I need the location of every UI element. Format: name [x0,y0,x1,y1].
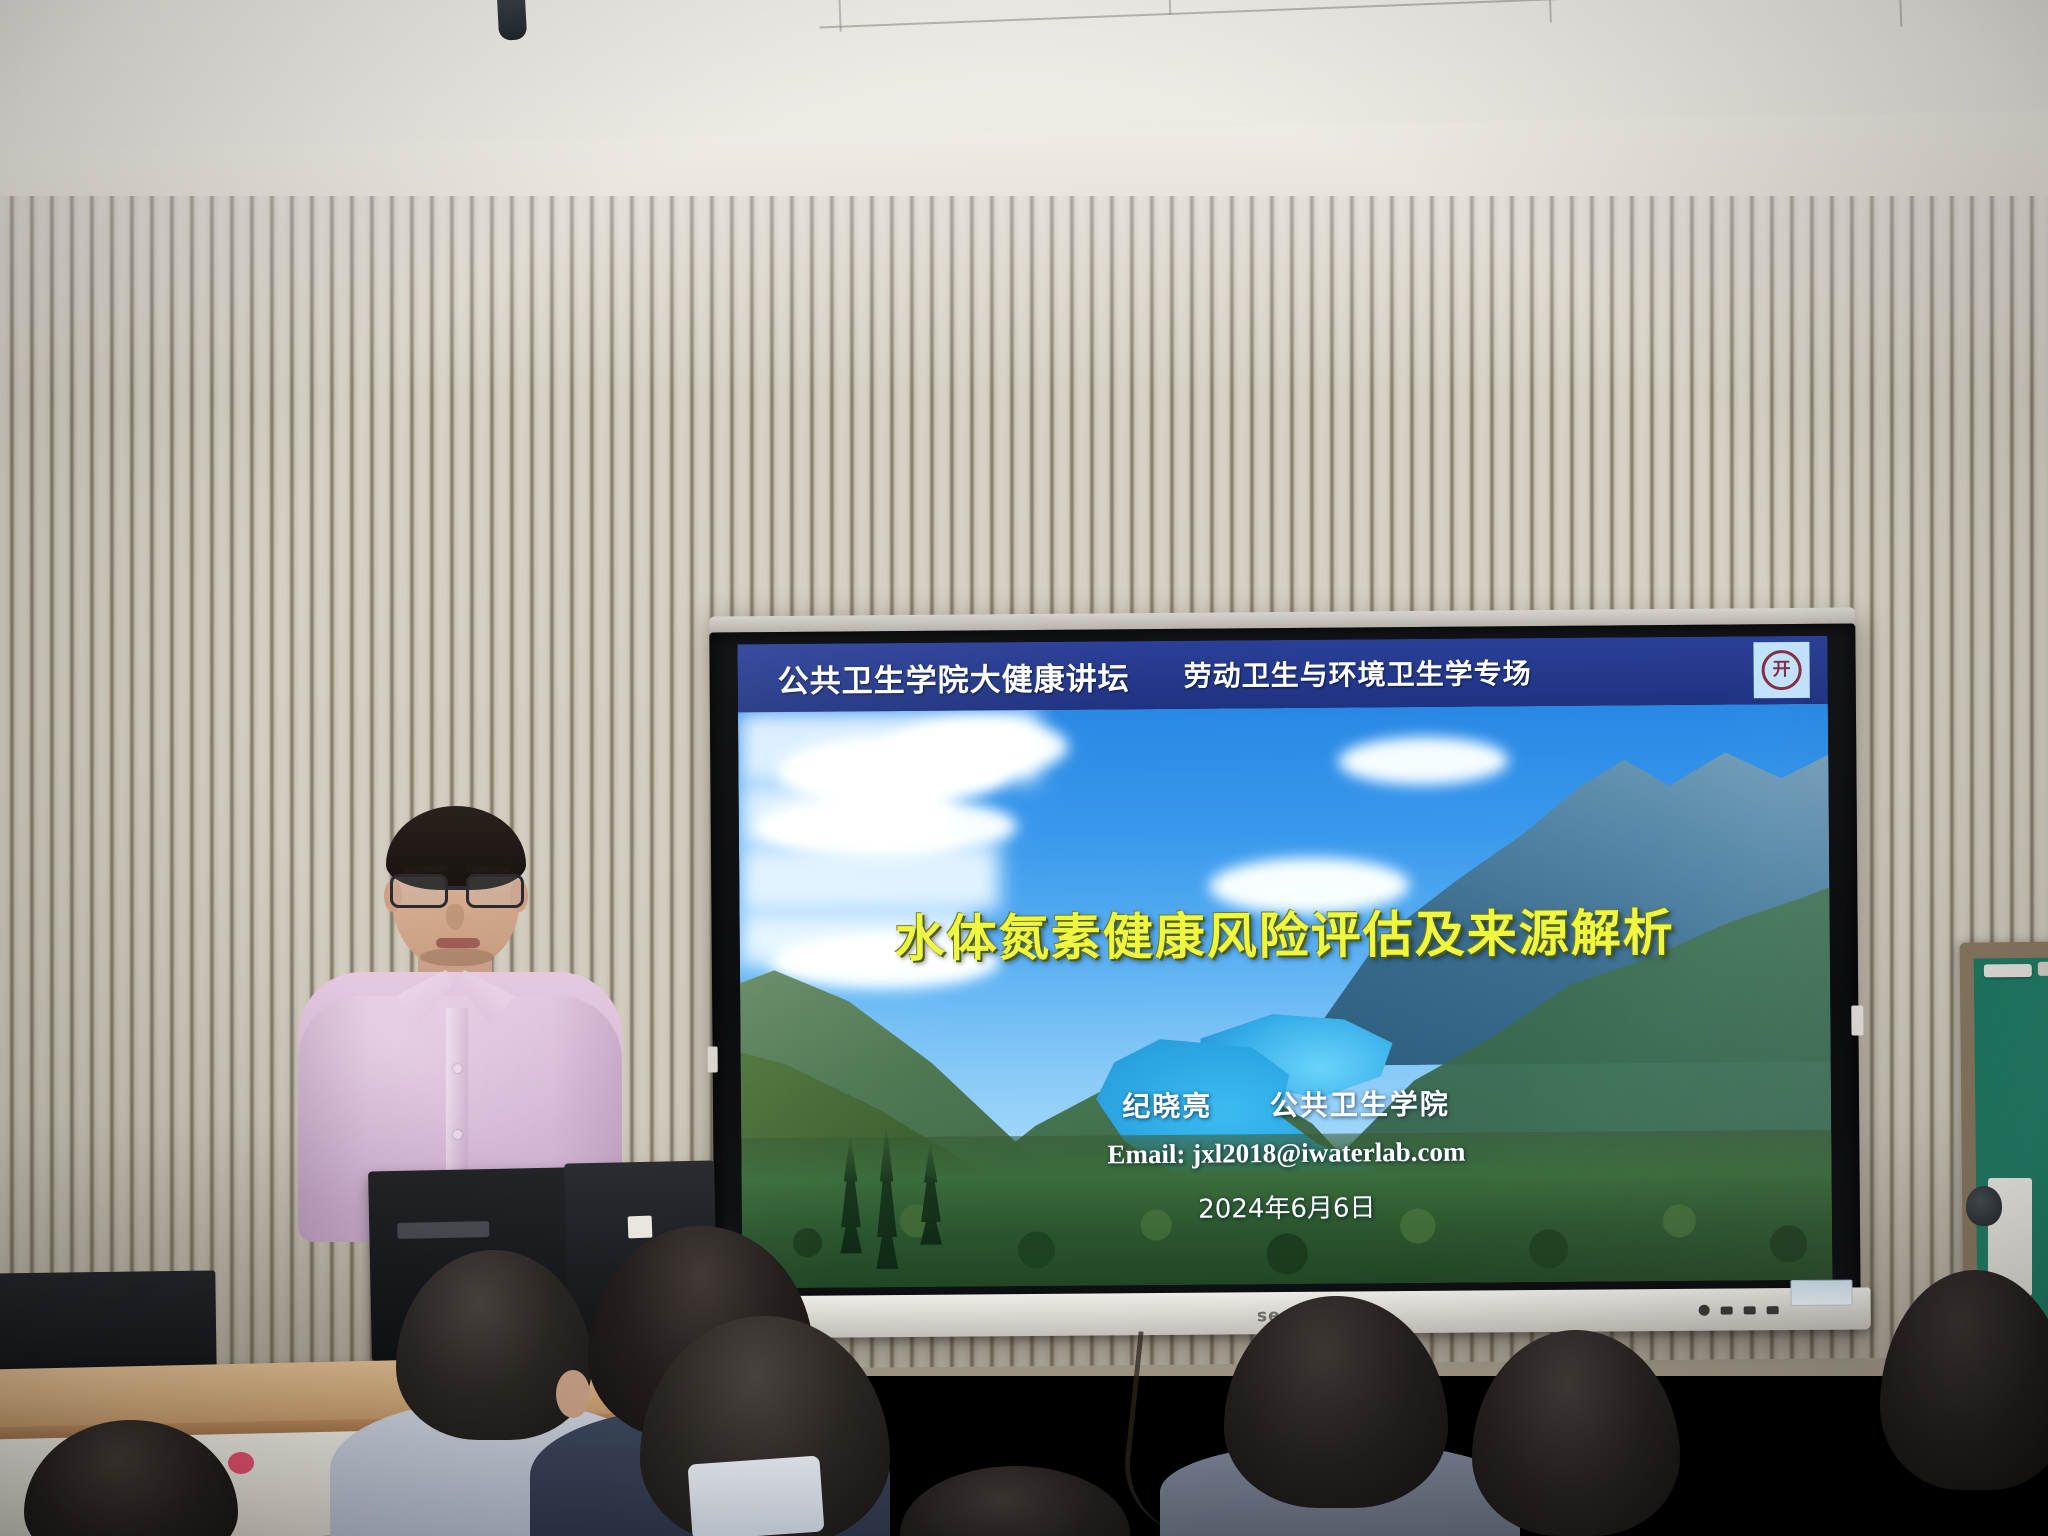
slide-presenter-line: 纪晓亮 公共卫生学院 [741,1080,1831,1129]
usb-port-icon[interactable] [1721,1306,1733,1314]
presentation-slide: 公共卫生学院大健康讲坛 劳动卫生与环境卫生学专场 开 [737,636,1832,1289]
audience-ear [556,1370,590,1418]
ceiling-sensor-icon [497,0,527,41]
wall-sensor-icon [1966,1186,2002,1226]
monitor-sticker [628,1216,653,1239]
panel-ports[interactable] [1699,1304,1779,1316]
hair-clip [228,1452,254,1474]
audience-head [900,1466,1130,1536]
lecture-hall-photo: 公共卫生学院大健康讲坛 劳动卫生与环境卫生学专场 开 [0,0,2048,1536]
banner-forum-title: 公共卫生学院大健康讲坛 [777,653,1129,701]
power-port-icon[interactable] [1699,1305,1710,1316]
panel-right-button[interactable] [1851,1005,1863,1035]
panel-screen[interactable]: 公共卫生学院大健康讲坛 劳动卫生与环境卫生学专场 开 [737,636,1832,1289]
slide-title: 水体氮素健康风险评估及来源解析 [739,892,1830,973]
banner-session-title: 劳动卫生与环境卫生学专场 [1183,652,1531,695]
slide-banner: 公共卫生学院大健康讲坛 劳动卫生与环境卫生学专场 开 [737,636,1828,713]
presenter-name: 纪晓亮 [1122,1090,1212,1124]
lenovo-logo-icon [397,1221,489,1239]
desk-monitor [0,1270,217,1379]
audience-collar [688,1455,825,1536]
university-seal-logo: 开 [1753,642,1809,698]
panel-info-tag [1790,1280,1852,1306]
hdmi-port-icon[interactable] [1767,1306,1779,1314]
seal-glyph: 开 [1761,650,1801,690]
seewo-interactive-panel[interactable]: 公共卫生学院大健康讲坛 劳动卫生与环境卫生学专场 开 [709,608,1861,1339]
panel-left-button[interactable] [708,1046,718,1072]
presenter-affiliation: 公共卫生学院 [1270,1088,1450,1122]
usb-port-icon[interactable] [1744,1306,1756,1314]
